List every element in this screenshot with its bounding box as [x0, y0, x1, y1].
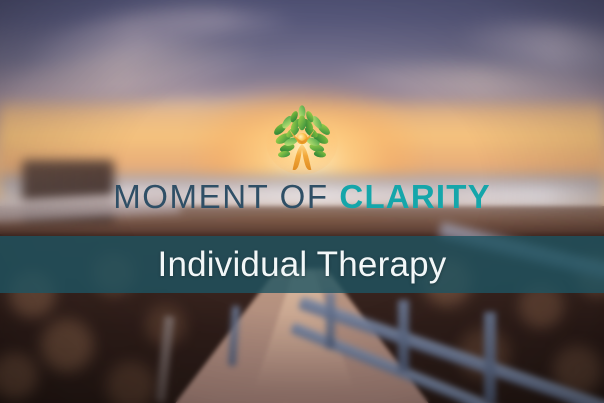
hero-banner: MOMENT OF CLARITY Individual Therapy	[0, 0, 604, 403]
logo-lockup: MOMENT OF CLARITY	[0, 98, 604, 213]
tree-with-human-figure-logo	[263, 98, 341, 176]
page-title: Individual Therapy	[158, 247, 447, 282]
logo-wordmark: MOMENT OF CLARITY	[113, 180, 491, 213]
wordmark-moment-of: MOMENT OF	[113, 178, 328, 215]
title-banner: Individual Therapy	[0, 236, 604, 293]
wordmark-clarity: CLARITY	[339, 178, 490, 215]
